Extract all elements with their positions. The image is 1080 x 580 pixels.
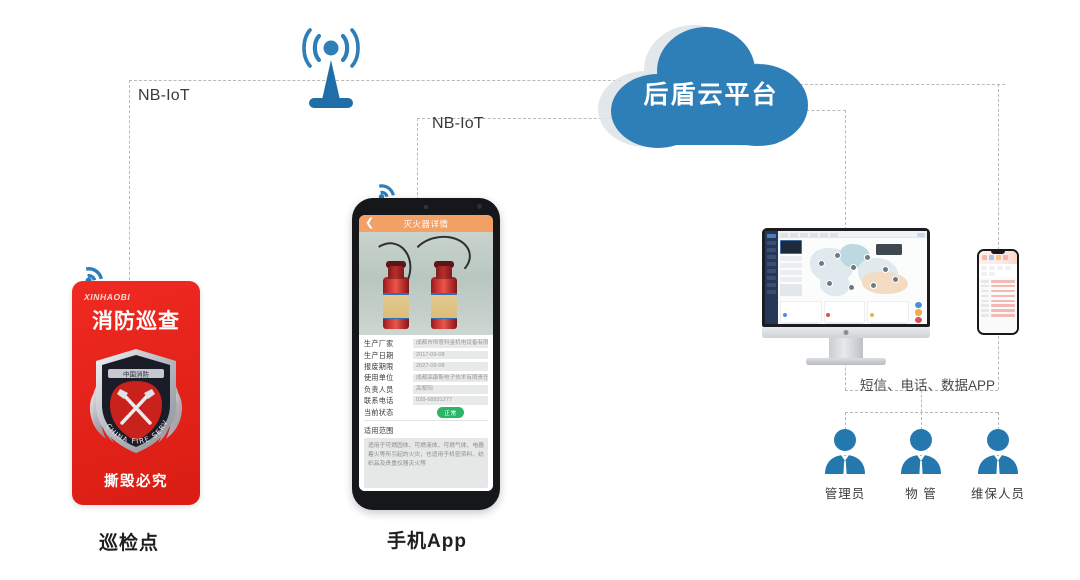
mobile-app-grid[interactable] — [979, 264, 1017, 278]
field-label: 负责人员 — [364, 384, 407, 395]
scope-title: 适用范围 — [364, 425, 483, 436]
svg-text:中国消防: 中国消防 — [123, 370, 150, 379]
card-footer-text: 撕毁必究 — [72, 470, 200, 491]
earpiece-dot — [424, 205, 428, 209]
smartphone-device: ❮ 灭火器详情 生产厂家 — [352, 198, 500, 510]
status-badge: 正常 — [437, 407, 464, 418]
video-preview-tile[interactable] — [780, 240, 802, 254]
field-value: 2027-09-08 — [413, 362, 488, 371]
connector-cloud-to-miniphone — [998, 84, 999, 250]
stat-card[interactable] — [867, 301, 909, 323]
label-nbiot-right: NB-IoT — [432, 115, 484, 133]
status-row: 当前状态 正常 — [364, 406, 488, 417]
detail-row: 使用单位 成都高康斯电子技术有限责任 — [364, 372, 488, 383]
field-value: 高黎阳 — [413, 385, 488, 394]
role-admin: 管理员 — [817, 428, 873, 502]
phone-screen: ❮ 灭火器详情 生产厂家 — [359, 215, 493, 491]
detail-row: 生产日期 2017-09-08 — [364, 349, 488, 360]
cell-tower-icon — [295, 20, 367, 112]
dashboard-sidebar[interactable] — [765, 231, 778, 324]
scope-section: 适用范围 适用于可燃固体、可燃液体、可燃气体、电器着火等所引起的火灾，也适用于机… — [359, 423, 493, 491]
field-label: 报废期限 — [364, 361, 407, 372]
label-nbiot-left: NB-IoT — [138, 87, 190, 105]
field-value: 成都高康斯电子技术有限责任 — [413, 374, 488, 383]
detail-row: 报废期限 2027-09-08 — [364, 361, 488, 372]
cloud-platform-label: 后盾云平台 — [588, 12, 826, 162]
desktop-monitor — [762, 228, 930, 365]
role-label: 物 管 — [893, 483, 949, 502]
map-tooltip — [876, 244, 902, 255]
monitor-stand-base — [806, 358, 886, 365]
dashboard-main — [778, 231, 927, 324]
stat-card[interactable] — [824, 301, 866, 323]
role-maintenance: 维保人员 — [970, 428, 1026, 502]
inspection-card: XINHAOBI 消防巡查 — [72, 281, 200, 505]
card-title: 消防巡查 — [72, 305, 200, 335]
extinguisher-photo — [359, 232, 493, 335]
connector-card-vertical — [129, 80, 130, 290]
stat-card[interactable] — [780, 301, 822, 323]
caption-mobile-app: 手机App — [387, 526, 467, 553]
role-label: 管理员 — [817, 483, 873, 502]
extinguisher-right — [431, 277, 457, 329]
field-label: 生产日期 — [364, 350, 407, 361]
detail-field-list: 生产厂家 成都市恒意科金机电设备有限 生产日期 2017-09-08 报废期限 … — [359, 335, 493, 423]
fire-service-emblem-icon: 中国消防 CHINA FIRE SERVICES — [84, 343, 188, 464]
detail-row: 生产厂家 成都市恒意科金机电设备有限 — [364, 338, 488, 349]
person-icon — [817, 428, 873, 474]
mobile-app-list[interactable] — [979, 278, 1017, 333]
extinguisher-left — [383, 277, 409, 329]
diagram-canvas: NB-IoT NB-IoT 短信、电话、数据APP — [0, 0, 1080, 580]
field-label: 使用单位 — [364, 373, 407, 384]
caption-inspection-point: 巡检点 — [99, 528, 159, 555]
front-camera-icon — [477, 204, 482, 209]
connector-cloud-to-monitor — [845, 110, 846, 230]
monitor-screen — [765, 231, 927, 324]
scope-text: 适用于可燃固体、可燃液体、可燃气体、电器着火等所引起的火灾，也适用于机密资料、纺… — [364, 438, 488, 488]
field-value: 028-68931277 — [413, 396, 488, 405]
chevron-left-icon[interactable]: ❮ — [365, 218, 374, 229]
role-property: 物 管 — [893, 428, 949, 502]
detail-row: 联系电话 028-68931277 — [364, 395, 488, 406]
card-brand-logo: XINHAOBI — [84, 292, 130, 302]
dashboard-toolbar[interactable] — [778, 231, 927, 238]
connector-cloud-right — [800, 84, 1005, 85]
mobile-app-screen — [979, 251, 1017, 333]
field-value: 2017-09-08 — [413, 351, 488, 360]
dashboard-stat-cards — [778, 300, 927, 324]
connector-tower-to-cloud — [331, 80, 621, 81]
apple-logo-icon — [844, 330, 849, 335]
app-header-bar: ❮ 灭火器详情 — [359, 215, 493, 232]
app-header-title: 灭火器详情 — [359, 218, 493, 230]
mobile-app-header — [979, 251, 1017, 264]
dashboard-left-panel — [778, 238, 804, 300]
field-label: 生产厂家 — [364, 338, 407, 349]
monitor-stand-neck — [829, 338, 863, 358]
role-label: 维保人员 — [970, 483, 1026, 502]
field-value: 成都市恒意科金机电设备有限 — [413, 339, 488, 348]
field-label: 联系电话 — [364, 395, 407, 406]
person-icon — [970, 428, 1026, 474]
mobile-app-device — [977, 249, 1019, 335]
label-notify-channels: 短信、电话、数据APP — [860, 374, 995, 394]
section-divider — [364, 420, 488, 421]
map-visualization[interactable] — [804, 238, 927, 300]
connector-phone-vertical — [417, 118, 418, 210]
connector-miniphone-down — [998, 336, 999, 390]
status-label: 当前状态 — [364, 407, 407, 418]
quick-action-icons[interactable] — [911, 301, 925, 323]
detail-row: 负责人员 高黎阳 — [364, 384, 488, 395]
monitor-chin — [762, 327, 930, 338]
notch — [991, 251, 1005, 254]
monitor-bezel — [762, 228, 930, 327]
person-icon — [893, 428, 949, 474]
